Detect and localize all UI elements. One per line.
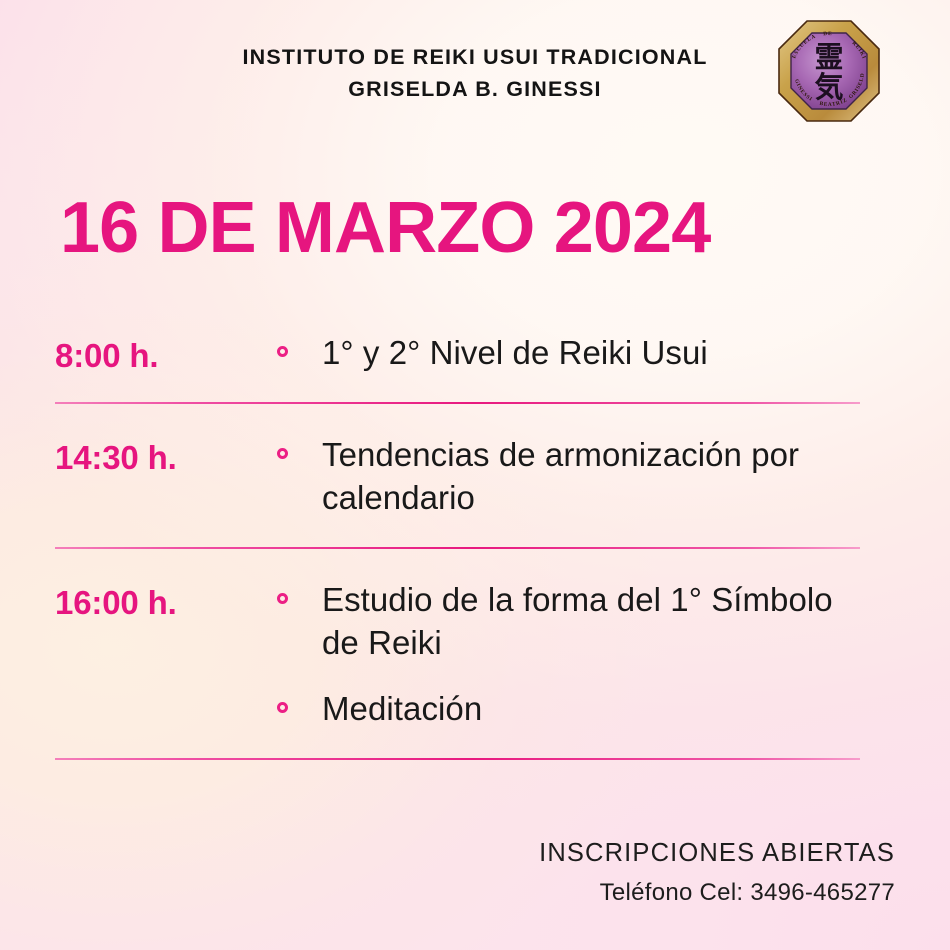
poster-content: INSTITUTO DE REIKI USUI TRADICIONAL GRIS… <box>0 0 950 950</box>
svg-text:気: 気 <box>814 70 843 104</box>
activity-text: 1° y 2° Nivel de Reiki Usui <box>322 332 708 375</box>
ring-bullet-icon <box>277 434 322 459</box>
schedule-list: 8:00 h. 1° y 2° Nivel de Reiki Usui 14:3… <box>55 332 855 760</box>
ring-bullet-icon <box>277 579 322 604</box>
list-item: Tendencias de armonización por calendari… <box>277 434 855 520</box>
footer: INSCRIPCIONES ABIERTAS Teléfono Cel: 349… <box>0 836 895 911</box>
schedule-time: 14:30 h. <box>55 434 277 474</box>
schedule-activities: Estudio de la forma del 1° Símbolo de Re… <box>277 579 855 732</box>
contact-phone: Teléfono Cel: 3496-465277 <box>0 876 895 911</box>
schedule-time: 16:00 h. <box>55 579 277 619</box>
activity-text: Tendencias de armonización por calendari… <box>322 434 855 520</box>
event-date-title: 16 DE MARZO 2024 <box>60 192 710 264</box>
schedule-row: 16:00 h. Estudio de la forma del 1° Símb… <box>55 579 855 732</box>
schedule-time: 8:00 h. <box>55 332 277 372</box>
svg-text:霊: 霊 <box>814 40 843 74</box>
list-item: 1° y 2° Nivel de Reiki Usui <box>277 332 855 375</box>
schedule-activities: Tendencias de armonización por calendari… <box>277 434 855 520</box>
ring-bullet-icon <box>277 688 322 713</box>
list-item: Estudio de la forma del 1° Símbolo de Re… <box>277 579 855 665</box>
enrollment-status: INSCRIPCIONES ABIERTAS <box>0 836 895 870</box>
schedule-row: 14:30 h. Tendencias de armonización por … <box>55 434 855 520</box>
svg-text:DE: DE <box>823 31 833 37</box>
activity-text: Meditación <box>322 688 482 731</box>
reiki-logo-icon: ESCUELA DE REIKI GINESSI BEATRIZ <box>775 17 883 125</box>
schedule-activities: 1° y 2° Nivel de Reiki Usui <box>277 332 855 375</box>
row-divider <box>55 758 860 760</box>
list-item: Meditación <box>277 688 855 731</box>
poster-canvas: INSTITUTO DE REIKI USUI TRADICIONAL GRIS… <box>0 0 950 950</box>
activity-text: Estudio de la forma del 1° Símbolo de Re… <box>322 579 855 665</box>
ring-bullet-icon <box>277 332 322 357</box>
schedule-row: 8:00 h. 1° y 2° Nivel de Reiki Usui <box>55 332 855 375</box>
